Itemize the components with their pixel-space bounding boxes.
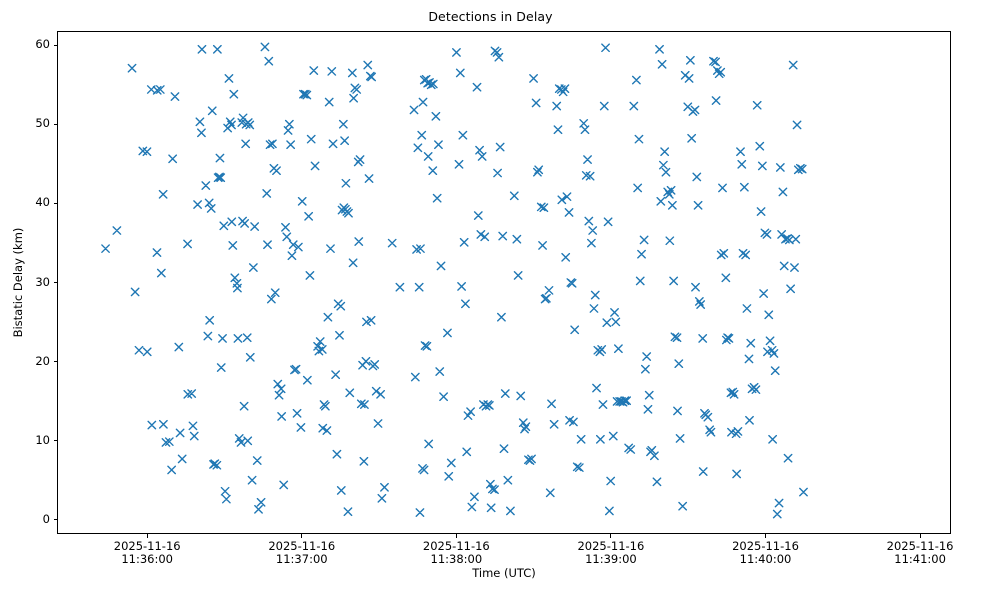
y-axis-tick-label: 10 [35, 433, 50, 447]
scatter-marker-path [102, 43, 807, 517]
x-axis-tick-label: 2025-11-1611:39:00 [577, 540, 644, 566]
plot-area [57, 31, 951, 534]
x-axis-tick-mark [610, 534, 611, 538]
x-axis-label: Time (UTC) [57, 566, 951, 580]
page-title: Detections in Delay [0, 9, 981, 24]
x-axis-tick-label: 2025-11-1611:41:00 [887, 540, 954, 566]
chart-figure: Detections in Delay 0102030405060 Bistat… [0, 0, 981, 590]
scatter-points-layer [58, 32, 950, 533]
y-axis-tick-mark [54, 45, 58, 46]
y-axis-tick-label: 60 [35, 37, 50, 51]
x-axis-tick-label: 2025-11-1611:38:00 [423, 540, 490, 566]
x-axis-tick-mark [920, 534, 921, 538]
y-axis-label-wrapper: Bistatic Delay (km) [11, 31, 25, 534]
y-axis-tick-mark [54, 361, 58, 362]
x-axis-tick-mark [765, 534, 766, 538]
scatter-series [58, 32, 950, 533]
y-axis-label: Bistatic Delay (km) [11, 31, 25, 534]
y-axis-tick-label: 40 [35, 195, 50, 209]
y-axis-tick-label: 0 [43, 512, 50, 526]
x-axis-tick-mark [147, 534, 148, 538]
x-axis-tick-label: 2025-11-1611:37:00 [268, 540, 335, 566]
x-axis-tick-label: 2025-11-1611:40:00 [732, 540, 799, 566]
y-axis-tick-mark [54, 124, 58, 125]
y-axis-tick-mark [54, 519, 58, 520]
x-axis-tick-mark [456, 534, 457, 538]
x-axis-tick-label: 2025-11-1611:36:00 [114, 540, 181, 566]
y-axis-tick-mark [54, 282, 58, 283]
y-axis-tick-label: 30 [35, 275, 50, 289]
y-axis-tick-mark [54, 440, 58, 441]
y-axis-tick-mark [54, 203, 58, 204]
x-axis-tick-mark [301, 534, 302, 538]
y-axis-tick-label: 50 [35, 116, 50, 130]
y-axis-tick-label: 20 [35, 354, 50, 368]
